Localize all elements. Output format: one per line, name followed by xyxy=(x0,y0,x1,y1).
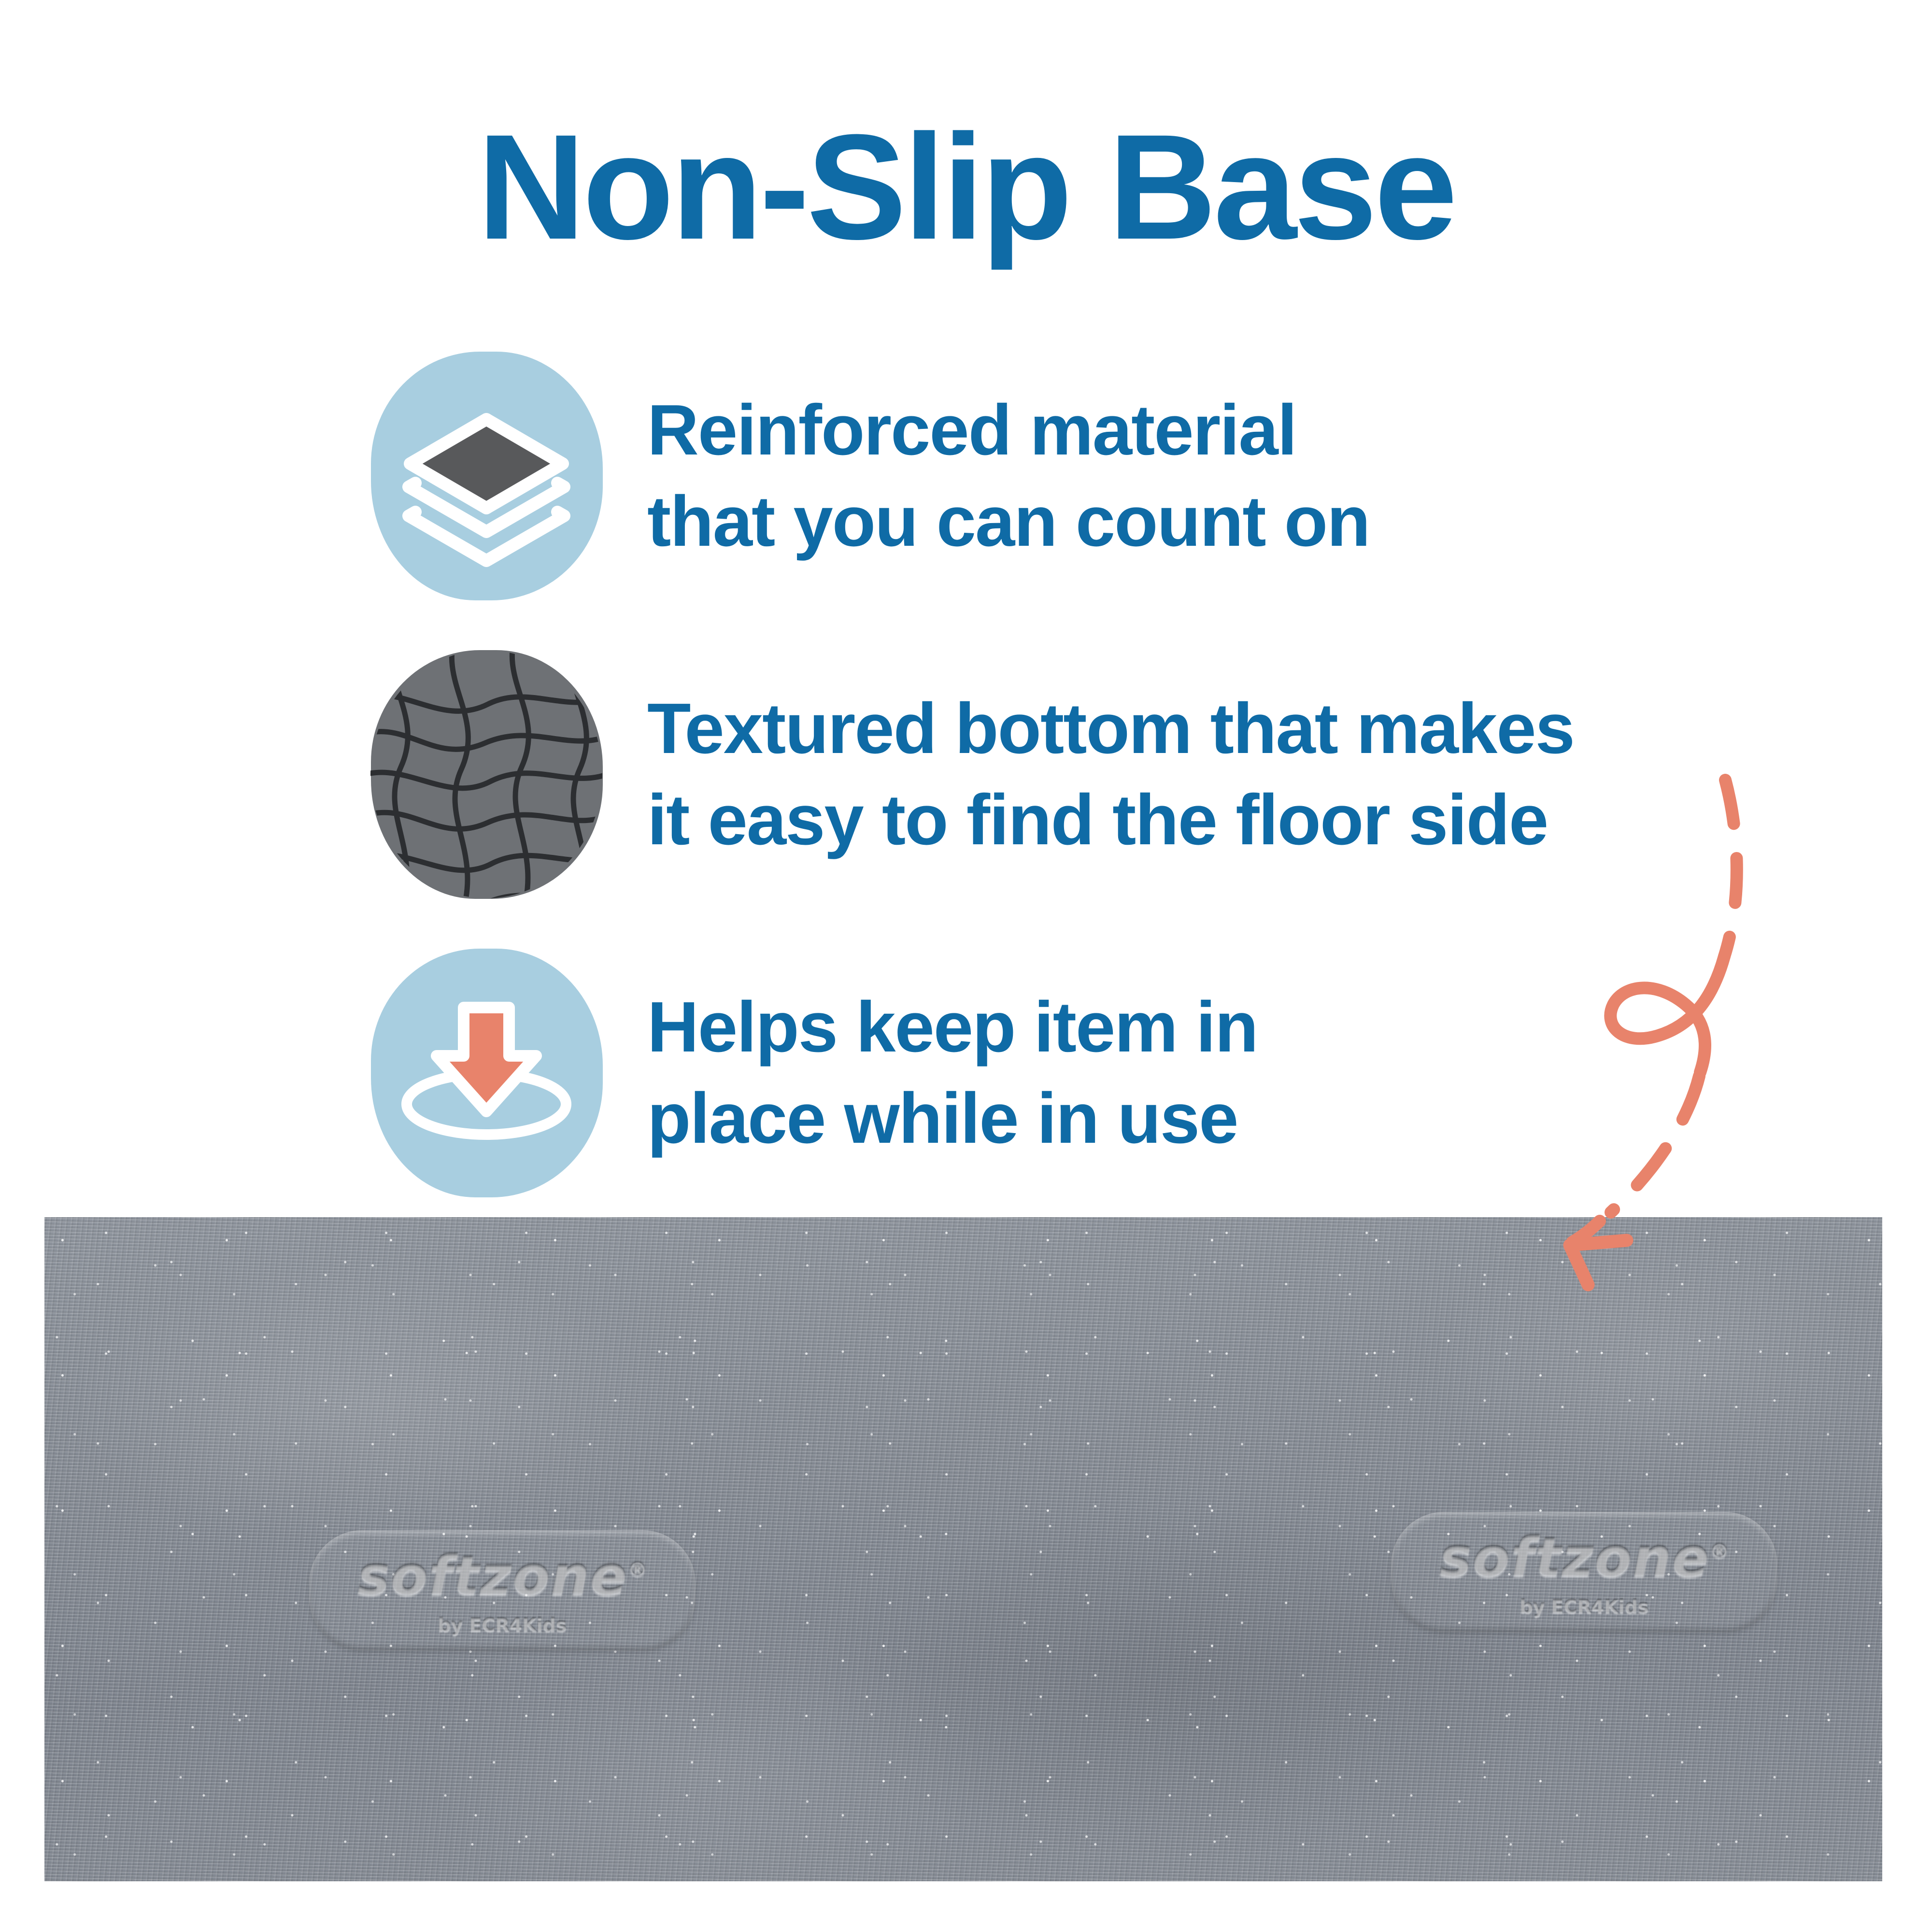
arrow-down-into-surface-icon xyxy=(367,945,606,1201)
registered-mark: ® xyxy=(1710,1541,1729,1563)
textured-surface-icon xyxy=(367,646,606,902)
feature-line-1: Helps keep item in xyxy=(647,981,1816,1073)
brand-wordmark: softzone® xyxy=(357,1545,647,1608)
feature-icon-wrapper xyxy=(367,646,606,902)
feature-row-keeps-in-place: Helps keep item in place while in use xyxy=(367,942,1816,1203)
brand-text: softzone xyxy=(1439,1527,1710,1590)
brand-byline: by ECR4Kids xyxy=(438,1615,567,1636)
feature-line-1: Reinforced material xyxy=(647,384,1816,476)
feature-text-textured-bottom: Textured bottom that makes it easy to fi… xyxy=(606,683,1816,866)
brand-text: softzone xyxy=(357,1545,628,1608)
softzone-embossed-logo-right: softzone® by ECR4Kids xyxy=(1391,1512,1777,1633)
feature-list: Reinforced material that you can count o… xyxy=(367,345,1816,1241)
brand-byline: by ECR4Kids xyxy=(1520,1596,1648,1618)
feature-line-2: it easy to find the floor side xyxy=(647,774,1816,866)
page-title: Non-Slip Base xyxy=(0,112,1932,262)
feature-icon-wrapper xyxy=(367,348,606,604)
feature-text-keeps-in-place: Helps keep item in place while in use xyxy=(606,981,1816,1165)
feature-icon-wrapper xyxy=(367,945,606,1201)
softzone-embossed-logo-left: softzone® by ECR4Kids xyxy=(309,1530,696,1651)
feature-line-2: place while in use xyxy=(647,1073,1816,1164)
infographic-page: Non-Slip Base Reinforced material that y… xyxy=(0,0,1932,1932)
feature-line-1: Textured bottom that makes xyxy=(647,683,1816,774)
layers-stack-icon xyxy=(367,348,606,604)
feature-text-reinforced-material: Reinforced material that you can count o… xyxy=(606,384,1816,568)
brand-wordmark: softzone® xyxy=(1439,1527,1729,1590)
feature-row-reinforced-material: Reinforced material that you can count o… xyxy=(367,345,1816,606)
feature-line-2: that you can count on xyxy=(647,476,1816,567)
registered-mark: ® xyxy=(628,1559,647,1581)
feature-row-textured-bottom: Textured bottom that makes it easy to fi… xyxy=(367,644,1816,905)
